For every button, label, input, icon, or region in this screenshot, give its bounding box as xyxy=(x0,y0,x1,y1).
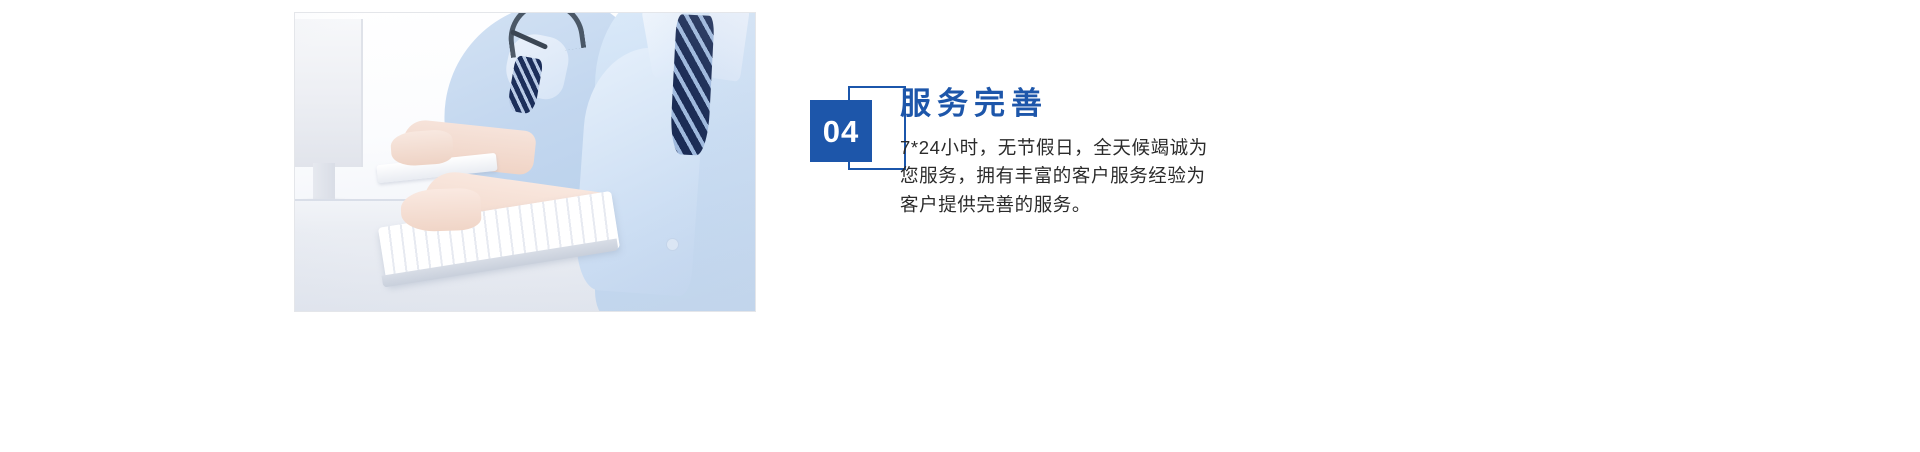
feature-content: 04 服务完善 7*24小时，无节假日，全天候竭诚为 您服务，拥有丰富的客户服务… xyxy=(810,86,1450,266)
feature-title: 服务完善 xyxy=(900,86,1370,122)
monitor-neck-shape xyxy=(313,163,335,201)
description-line: 客户提供完善的服务。 xyxy=(900,191,1370,220)
badge-number-label: 04 xyxy=(810,100,872,162)
monitor-screen-shape xyxy=(294,19,363,167)
photo-canvas xyxy=(295,13,755,311)
feature-description: 7*24小时，无节假日，全天候竭诚为 您服务，拥有丰富的客户服务经验为 客户提供… xyxy=(900,134,1370,220)
foreground-hand-shape xyxy=(400,188,481,233)
feature-photo xyxy=(294,12,756,312)
shirt-cuff-button-shape xyxy=(667,239,678,250)
background-hand-shape xyxy=(390,129,454,167)
feature-text-column: 服务完善 7*24小时，无节假日，全天候竭诚为 您服务，拥有丰富的客户服务经验为… xyxy=(900,86,1370,220)
description-line: 您服务，拥有丰富的客户服务经验为 xyxy=(900,162,1370,191)
description-line: 7*24小时，无节假日，全天候竭诚为 xyxy=(900,134,1370,163)
feature-number-badge: 04 xyxy=(810,86,906,182)
service-feature-banner: 04 服务完善 7*24小时，无节假日，全天候竭诚为 您服务，拥有丰富的客户服务… xyxy=(0,0,1920,452)
